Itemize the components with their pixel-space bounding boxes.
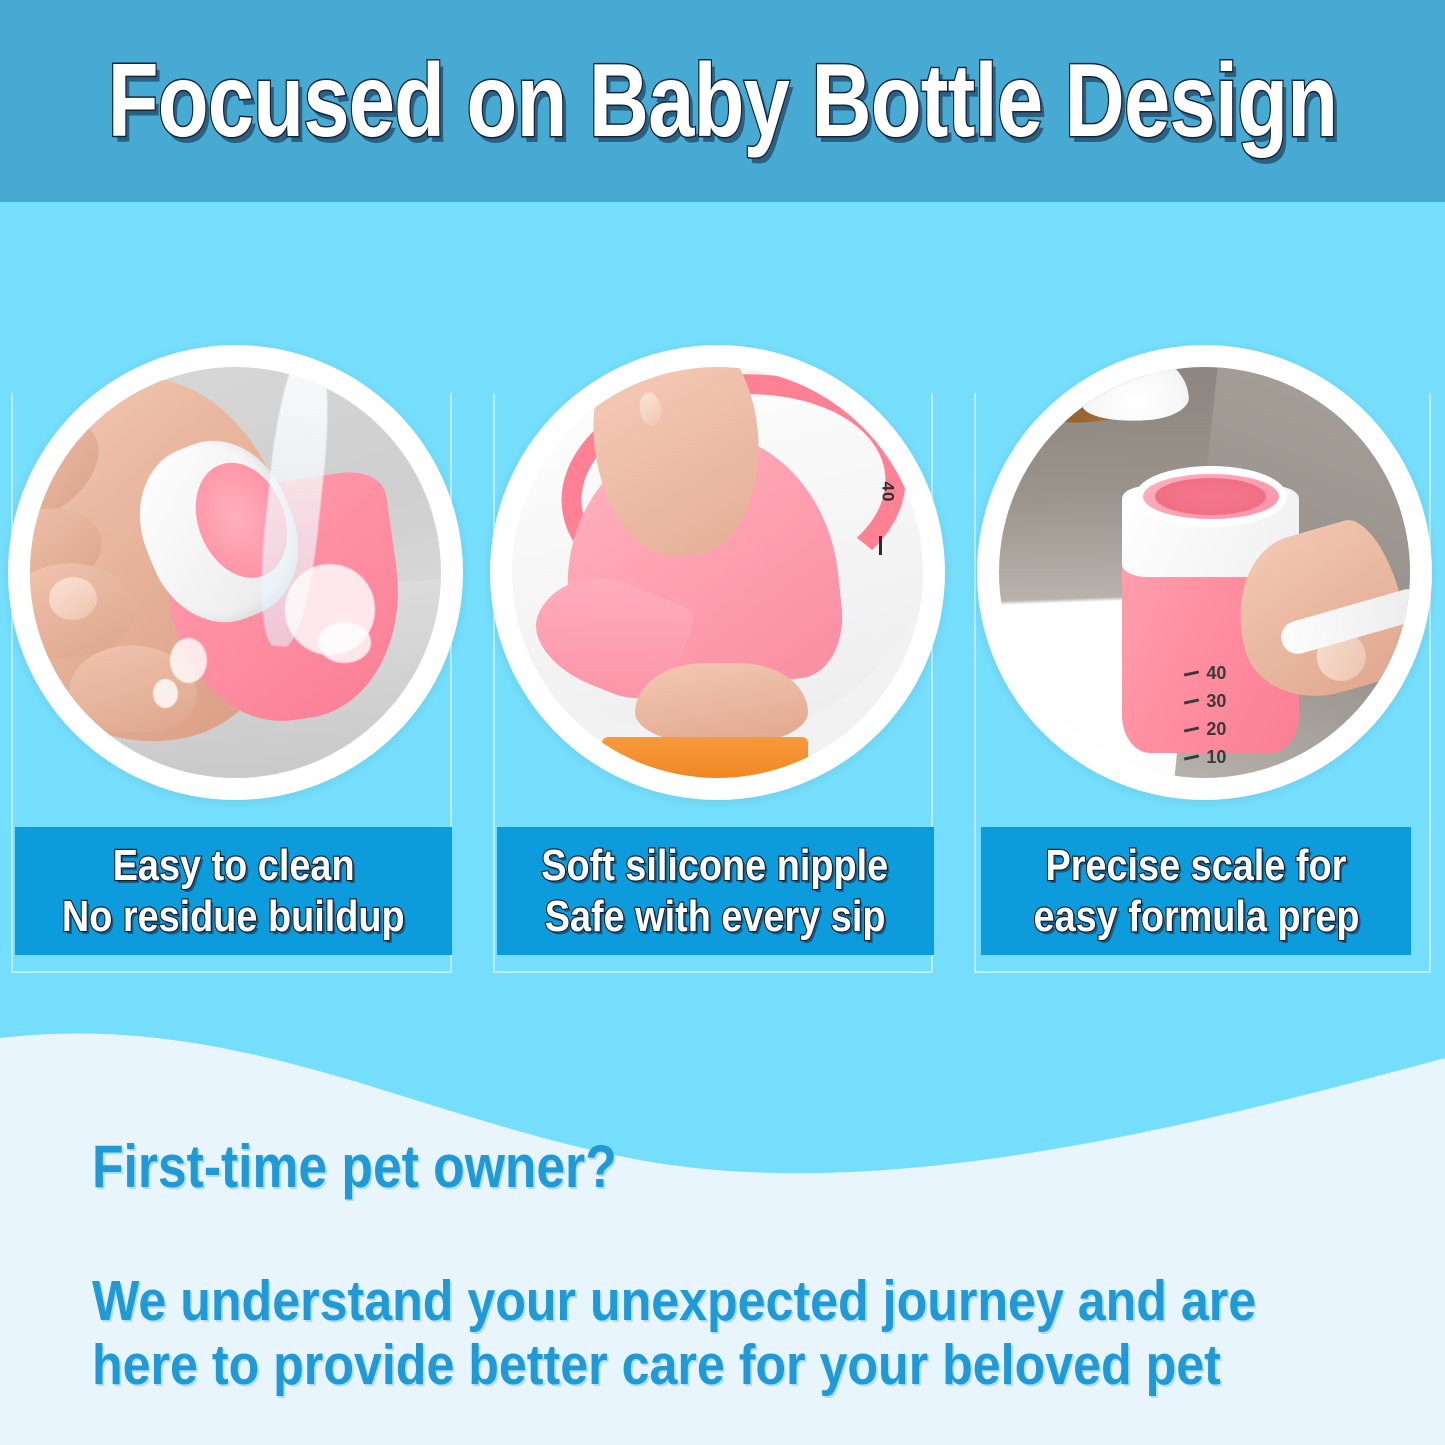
feature-panel-precise-scale: 40 30 20 xyxy=(963,345,1445,985)
bottle-opening xyxy=(1155,478,1266,515)
scale-tick-icon xyxy=(1184,698,1199,704)
feature-photo-nipple: 40 xyxy=(490,345,945,800)
feature-panel-easy-to-clean: Easy to clean No residue buildup xyxy=(0,345,482,985)
scale-tick-icon xyxy=(1184,726,1199,732)
caption-line-2: easy formula prep xyxy=(1033,892,1359,941)
water-splash xyxy=(153,679,178,708)
scale-row: 20 xyxy=(1184,719,1226,740)
scale-tick-icon xyxy=(1184,754,1199,760)
water-splash xyxy=(170,638,207,683)
scale-row: 40 xyxy=(1184,663,1226,684)
scale-tick-icon xyxy=(1184,670,1199,676)
bottom-body: We understand your unexpected journey an… xyxy=(92,1270,1166,1398)
caption-bar-soft-nipple: Soft silicone nipple Safe with every sip xyxy=(497,827,934,955)
bottom-heading: First-time pet owner? xyxy=(92,1135,1141,1198)
scale-row: 10 xyxy=(1184,747,1226,768)
scale-value: 10 xyxy=(1206,747,1226,768)
caption-bar-easy-to-clean: Easy to clean No residue buildup xyxy=(15,827,452,955)
scene-squeezing-nipple: 40 xyxy=(512,367,923,778)
caption-line-1: Soft silicone nipple xyxy=(542,841,889,890)
caption-line-1: Easy to clean xyxy=(113,841,355,890)
photo-inner: 40 30 20 xyxy=(999,367,1410,778)
feature-photo-scale: 40 30 20 xyxy=(977,345,1432,800)
infographic-page: Focused on Baby Bottle Design xyxy=(0,0,1445,1445)
page-title: Focused on Baby Bottle Design xyxy=(108,49,1338,153)
feature-panel-soft-nipple: 40 Soft silicone nipple Safe with every … xyxy=(482,345,964,985)
scale-value: 20 xyxy=(1206,719,1226,740)
scale-value: 30 xyxy=(1206,691,1226,712)
feature-panel-row: Easy to clean No residue buildup xyxy=(0,345,1445,985)
caption-bar-precise-scale: Precise scale for easy formula prep xyxy=(981,827,1411,955)
bottom-body-line-2: here to provide better care for your bel… xyxy=(92,1334,1166,1398)
lower-fingers xyxy=(635,663,808,745)
scale-tick xyxy=(879,536,882,555)
scale-row: 30 xyxy=(1184,691,1226,712)
caption-line-1: Precise scale for xyxy=(1046,841,1347,890)
bottom-body-line-1: We understand your unexpected journey an… xyxy=(92,1270,1166,1334)
bottom-message-block: First-time pet owner? We understand your… xyxy=(92,1135,1312,1398)
scene-washing-bottle xyxy=(30,367,441,778)
scale-label-40: 40 xyxy=(877,482,897,503)
orange-surface xyxy=(602,737,808,778)
scene-formula-prep: 40 30 20 xyxy=(999,367,1410,778)
water-splash xyxy=(318,622,371,663)
thumbnail xyxy=(637,390,664,427)
caption-line-2: Safe with every sip xyxy=(545,892,886,941)
photo-inner: 40 xyxy=(512,367,923,778)
photo-inner xyxy=(30,367,441,778)
header-banner: Focused on Baby Bottle Design xyxy=(0,0,1445,202)
caption-line-2: No residue buildup xyxy=(62,892,405,941)
measurement-scale: 40 30 20 xyxy=(1184,663,1226,768)
scale-value: 40 xyxy=(1206,663,1226,684)
feature-photo-cleaning xyxy=(8,345,463,800)
